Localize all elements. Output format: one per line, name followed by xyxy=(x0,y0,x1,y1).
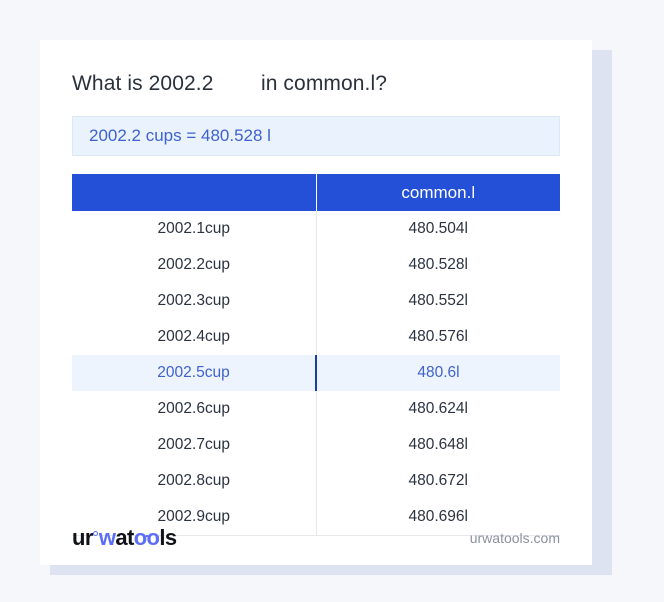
cell-to: 480.672l xyxy=(316,463,560,499)
table-row[interactable]: 2002.4cup 480.576l xyxy=(72,319,560,355)
site-url: urwatools.com xyxy=(470,530,560,546)
conversion-card: What is 2002.2 in common.l? 2002.2 cups … xyxy=(40,40,592,565)
cell-from: 2002.6cup xyxy=(72,391,316,427)
cell-to: 480.6l xyxy=(316,355,560,391)
cell-from: 2002.5cup xyxy=(72,355,316,391)
conversion-table: common.l 2002.1cup 480.504l 2002.2cup 48… xyxy=(72,174,560,536)
urwatools-logo[interactable]: ur w at oo ls xyxy=(72,525,177,551)
page-title: What is 2002.2 in common.l? xyxy=(40,40,592,96)
cell-to: 480.528l xyxy=(316,247,560,283)
cell-to: 480.576l xyxy=(316,319,560,355)
table-header-from xyxy=(72,174,316,211)
table-header-to: common.l xyxy=(316,174,560,211)
table-row-highlighted[interactable]: 2002.5cup 480.6l xyxy=(72,355,560,391)
card-footer: ur w at oo ls urwatools.com xyxy=(72,525,560,551)
page-root: What is 2002.2 in common.l? 2002.2 cups … xyxy=(0,0,664,602)
table-row[interactable]: 2002.2cup 480.528l xyxy=(72,247,560,283)
cell-to: 480.624l xyxy=(316,391,560,427)
logo-text-w: w xyxy=(99,525,116,551)
table-header: common.l xyxy=(72,174,560,211)
cell-from: 2002.2cup xyxy=(72,247,316,283)
table-row[interactable]: 2002.6cup 480.624l xyxy=(72,391,560,427)
logo-text-ls: ls xyxy=(159,525,176,551)
degree-dot-icon xyxy=(93,531,98,536)
table-row[interactable]: 2002.7cup 480.648l xyxy=(72,427,560,463)
table-row[interactable]: 2002.3cup 480.552l xyxy=(72,283,560,319)
glasses-icon: oo xyxy=(134,525,160,551)
cell-from: 2002.7cup xyxy=(72,427,316,463)
conversion-result-banner: 2002.2 cups = 480.528 l xyxy=(72,116,560,156)
cell-to: 480.552l xyxy=(316,283,560,319)
cell-from: 2002.1cup xyxy=(72,211,316,247)
cell-from: 2002.4cup xyxy=(72,319,316,355)
table-row[interactable]: 2002.8cup 480.672l xyxy=(72,463,560,499)
logo-text-at: at xyxy=(115,525,133,551)
table-row[interactable]: 2002.1cup 480.504l xyxy=(72,211,560,247)
cell-to: 480.504l xyxy=(316,211,560,247)
cell-from: 2002.8cup xyxy=(72,463,316,499)
table-header-row: common.l xyxy=(72,174,560,211)
logo-text-ur: ur xyxy=(72,525,93,551)
cell-from: 2002.3cup xyxy=(72,283,316,319)
table-body: 2002.1cup 480.504l 2002.2cup 480.528l 20… xyxy=(72,211,560,536)
cell-to: 480.648l xyxy=(316,427,560,463)
